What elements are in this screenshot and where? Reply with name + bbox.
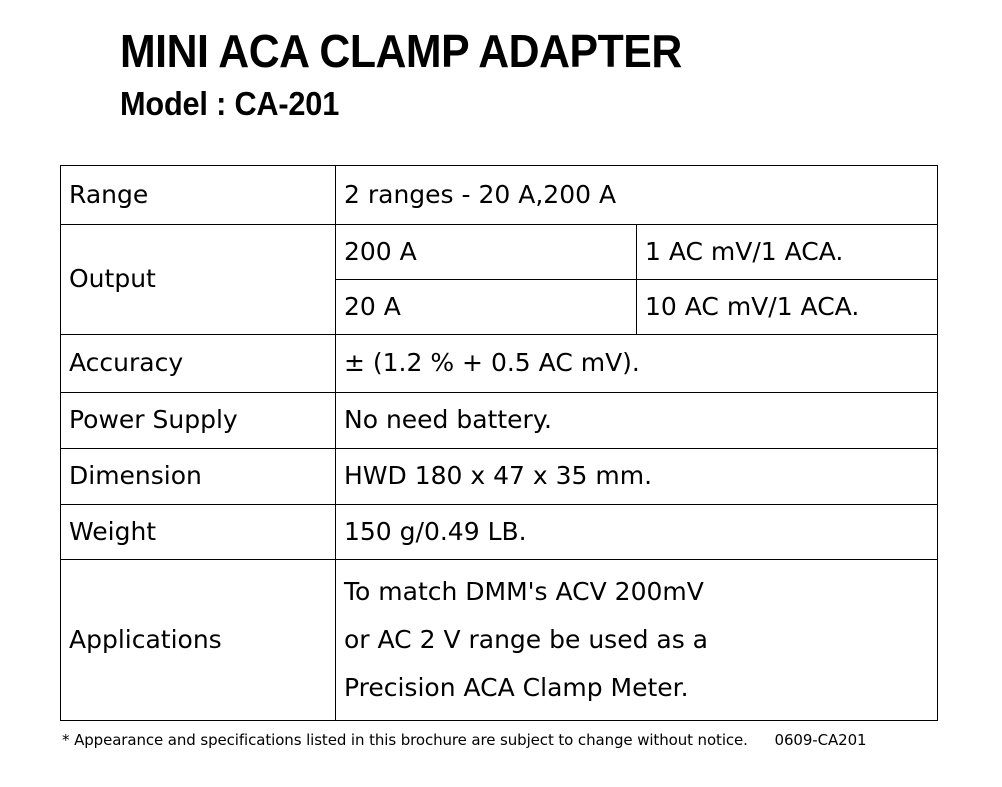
spec-label-weight: Weight [61,505,336,560]
spec-label-power-supply: Power Supply [61,393,336,449]
spec-value-range: 2 ranges - 20 A,200 A [336,166,938,225]
spec-value-output-200a: 1 AC mV/1 ACA. [637,225,938,280]
table-row-dimension: Dimension HWD 180 x 47 x 35 mm. [61,449,938,505]
table-row-accuracy: Accuracy ± (1.2 % + 0.5 AC mV). [61,335,938,393]
spec-value-power-supply: No need battery. [336,393,938,449]
spec-value-output-20a: 10 AC mV/1 ACA. [637,280,938,335]
spec-sublabel-output-20a: 20 A [336,280,637,335]
spec-value-accuracy: ± (1.2 % + 0.5 AC mV). [336,335,938,393]
table-row-range: Range 2 ranges - 20 A,200 A [61,166,938,225]
footer-note: * Appearance and specifications listed i… [62,730,952,750]
spec-label-accuracy: Accuracy [61,335,336,393]
spec-value-weight: 150 g/0.49 LB. [336,505,938,560]
table-row-applications: Applications To match DMM's ACV 200mV or… [61,560,938,721]
applications-line-3: Precision ACA Clamp Meter. [344,664,937,712]
footer-disclaimer-text: * Appearance and specifications listed i… [62,731,748,749]
table-row-weight: Weight 150 g/0.49 LB. [61,505,938,560]
spec-value-applications: To match DMM's ACV 200mV or AC 2 V range… [336,560,938,721]
table-row-output-200a: Output 200 A 1 AC mV/1 ACA. [61,225,938,280]
spec-label-applications: Applications [61,560,336,721]
spec-label-range: Range [61,166,336,225]
footer-document-code: 0609-CA201 [775,731,867,749]
model-number-label: Model : CA-201 [120,84,920,124]
spec-label-output: Output [61,225,336,335]
spec-sublabel-output-200a: 200 A [336,225,637,280]
page-title: MINI ACA CLAMP ADAPTER [120,24,920,78]
spec-value-dimension: HWD 180 x 47 x 35 mm. [336,449,938,505]
product-header: MINI ACA CLAMP ADAPTER Model : CA-201 [120,24,980,124]
spec-label-dimension: Dimension [61,449,336,505]
applications-line-1: To match DMM's ACV 200mV [344,568,937,616]
applications-line-2: or AC 2 V range be used as a [344,616,937,664]
table-row-power-supply: Power Supply No need battery. [61,393,938,449]
specifications-table: Range 2 ranges - 20 A,200 A Output 200 A… [60,165,938,721]
